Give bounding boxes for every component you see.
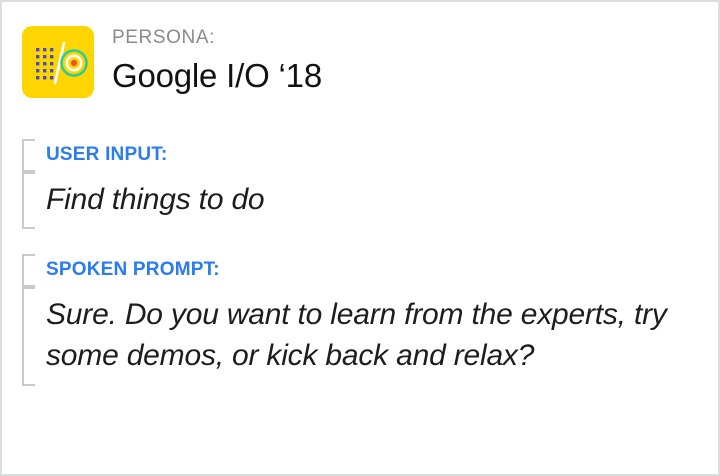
persona-text-block: PERSONA: Google I/O ‘18 bbox=[112, 26, 322, 96]
spoken-prompt-label: SPOKEN PROMPT: bbox=[46, 254, 698, 287]
user-input-label-row: USER INPUT: bbox=[22, 139, 698, 172]
bracket-marker-icon bbox=[22, 287, 35, 386]
persona-dialog-card: PERSONA: Google I/O ‘18 USER INPUT: Find… bbox=[0, 0, 720, 476]
spoken-prompt-text: Sure. Do you want to learn from the expe… bbox=[46, 287, 698, 386]
bracket-marker-icon bbox=[22, 172, 35, 229]
section-spoken-prompt: SPOKEN PROMPT: Sure. Do you want to lear… bbox=[22, 254, 698, 386]
spoken-prompt-label-row: SPOKEN PROMPT: bbox=[22, 254, 698, 287]
user-input-text: Find things to do bbox=[46, 172, 698, 229]
bracket-marker-icon bbox=[22, 139, 35, 172]
section-user-input: USER INPUT: Find things to do bbox=[22, 139, 698, 229]
persona-title: Google I/O ‘18 bbox=[112, 55, 322, 96]
spoken-prompt-body-row: Sure. Do you want to learn from the expe… bbox=[22, 287, 698, 386]
user-input-label: USER INPUT: bbox=[46, 139, 698, 172]
google-io-logo-icon bbox=[22, 26, 94, 98]
persona-label: PERSONA: bbox=[112, 28, 322, 49]
persona-header: PERSONA: Google I/O ‘18 bbox=[22, 26, 322, 98]
user-input-body-row: Find things to do bbox=[22, 172, 698, 229]
bracket-marker-icon bbox=[22, 254, 35, 287]
